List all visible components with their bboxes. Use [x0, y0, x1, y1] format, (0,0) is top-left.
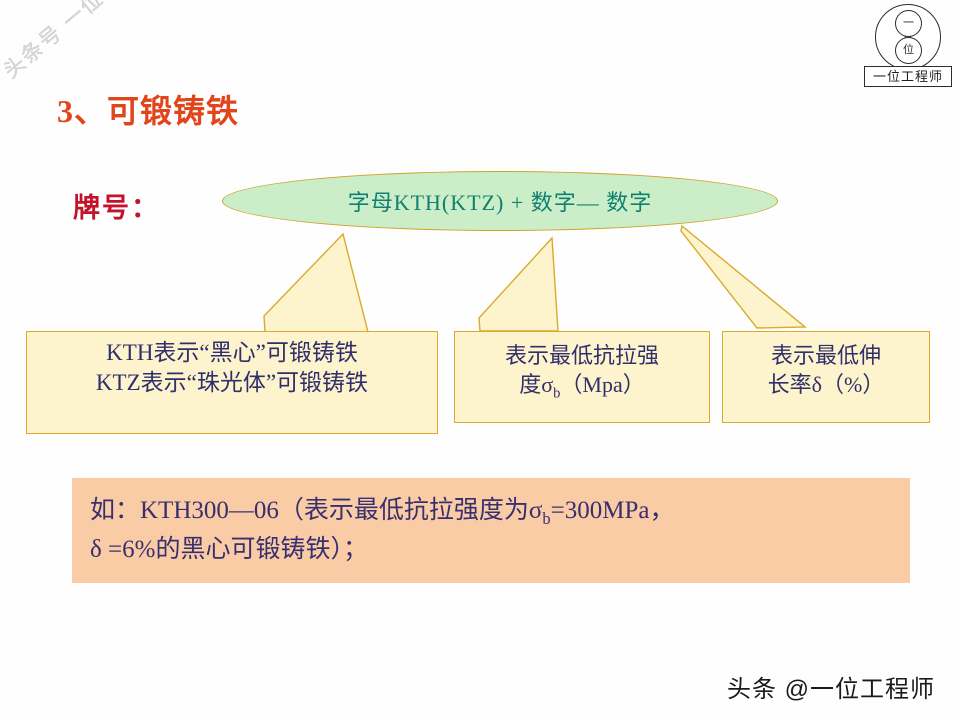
callout-1-line-2: KTZ表示“珠光体”可锻铸铁 [27, 368, 437, 398]
grade-format-text: 字母KTH(KTZ) + 数字— 数字 [348, 185, 653, 217]
logo-inner-circle-bottom: 位 [895, 37, 922, 64]
callout-2-unit-text: （Mpa） [560, 372, 644, 397]
grade-format-ellipse: 字母KTH(KTZ) + 数字— 数字 [222, 171, 778, 231]
example-box: 如：KTH300—06（表示最低抗拉强度为σb=300MPa， δ =6%的黑心… [72, 478, 910, 583]
connector-tail-2 [479, 238, 558, 331]
example-subscript-b: b [542, 509, 550, 528]
grade-designation-label: 牌号： [73, 186, 160, 225]
callout-3-line-2: 长率δ（%） [723, 370, 929, 399]
callout-1-line-1: KTH表示“黑心”可锻铸铁 [27, 338, 437, 368]
callout-box-elongation: 表示最低伸 长率δ（%） [722, 331, 930, 423]
brand-logo: 一 5 位 一位工程师 [864, 4, 952, 92]
callout-2-line-1: 表示最低抗拉强 [455, 341, 709, 370]
example-line-2: δ =6%的黑心可锻铸铁）； [90, 531, 892, 568]
callout-2-line-2: 度σb（Mpa） [455, 370, 709, 404]
slide-canvas: 头条号 一位工程师 一 5 位 一位工程师 3、可锻铸铁 牌号： 字母KTH(K… [0, 0, 960, 720]
connector-tail-1 [264, 234, 368, 332]
logo-name-label: 一位工程师 [864, 66, 952, 87]
callout-box-kth-ktz: KTH表示“黑心”可锻铸铁 KTZ表示“珠光体”可锻铸铁 [26, 331, 438, 434]
callout-2-sigma-text: 度σ [519, 372, 553, 397]
example-line-1: 如：KTH300—06（表示最低抗拉强度为σb=300MPa， [90, 492, 892, 531]
callout-box-tensile-strength: 表示最低抗拉强 度σb（Mpa） [454, 331, 710, 423]
callout-3-line-1: 表示最低伸 [723, 341, 929, 370]
logo-inner-circle-top: 一 [895, 10, 922, 37]
example-line-1-pre: 如：KTH300—06（表示最低抗拉强度为σ [90, 497, 542, 524]
bottom-watermark: 头条 @一位工程师 [727, 669, 935, 704]
connector-tail-3 [681, 226, 805, 328]
page-title: 3、可锻铸铁 [57, 86, 239, 132]
example-line-1-post: =300MPa， [551, 497, 675, 524]
diagonal-watermark: 头条号 一位工程师 [0, 0, 163, 84]
